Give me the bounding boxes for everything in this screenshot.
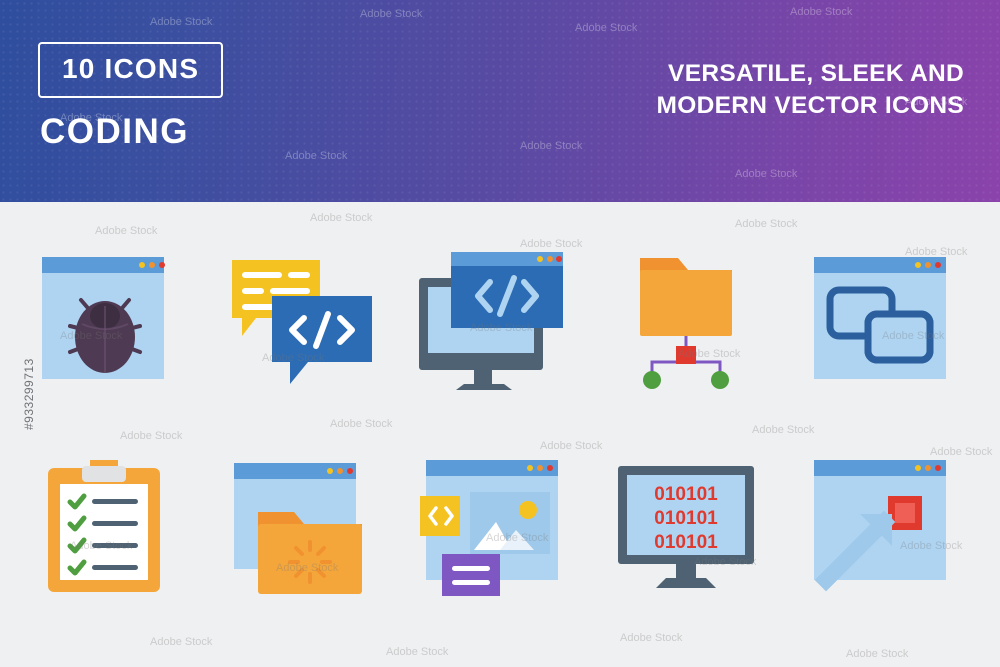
binary-row-3: 010101 [654,532,718,553]
poster-canvas: 10 ICONS CODING VERSATILE, SLEEK AND MOD… [0,0,1000,667]
tagline: VERSATILE, SLEEK AND MODERN VECTOR ICONS [444,58,964,123]
network-node-right [711,371,729,389]
icon-browser-layers[interactable] [788,232,968,412]
stock-id-label: #933299713 [22,358,36,430]
browser-titlebar [42,257,164,273]
browser-titlebar [451,252,563,266]
icon-clipboard-checklist[interactable] [20,438,200,618]
icon-monitor-binary[interactable]: 010101 010101 010101 [596,438,776,618]
code-block [420,496,460,536]
monitor-neck [676,564,696,578]
icon-count-label: 10 ICONS [62,53,199,84]
watermark: Adobe Stock [735,218,797,230]
icon-browser-folder-load[interactable] [212,438,392,618]
watermark: Adobe Stock [846,648,908,660]
monitor-neck [474,370,492,384]
page-title: CODING [40,112,189,152]
watermark: Adobe Stock [330,418,392,430]
clipboard-clip [82,466,126,482]
icon-folder-network[interactable] [596,232,776,412]
icon-count-badge: 10 ICONS [38,42,223,98]
network-node-left [643,371,661,389]
text-block [442,554,500,596]
watermark: Adobe Stock [752,424,814,436]
tagline-line-1: VERSATILE, SLEEK AND [444,58,964,90]
icon-chat-code[interactable] [212,232,392,412]
tagline-line-2: MODERN VECTOR ICONS [444,90,964,122]
icon-monitor-code[interactable] [404,232,584,412]
monitor-base [656,578,716,588]
folder-body [640,270,732,336]
icon-browser-bug[interactable] [20,232,200,412]
watermark: Adobe Stock [310,212,372,224]
header-banner: 10 ICONS CODING VERSATILE, SLEEK AND MOD… [0,0,1000,202]
icon-browser-arrow-stop[interactable] [788,438,968,618]
watermark: Adobe Stock [620,632,682,644]
network-node-center [676,346,696,364]
chat-bubble-blue [272,296,372,384]
watermark: Adobe Stock [386,646,448,658]
icon-browser-layout[interactable] [404,438,584,618]
binary-row-2: 010101 [654,508,718,529]
watermark: Adobe Stock [150,636,212,648]
monitor-base [456,384,512,390]
binary-row-1: 010101 [654,484,718,505]
